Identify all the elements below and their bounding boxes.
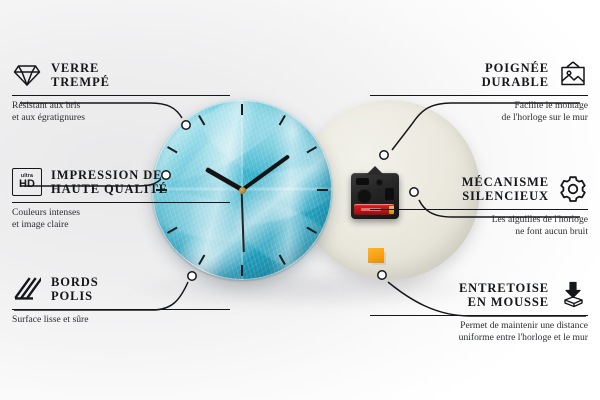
feature-entretoise-en-mousse: ENTRETOISE EN MOUSSE Permet de maintenir… [370, 278, 588, 344]
feature-header: POIGNÉE DURABLE [370, 58, 588, 92]
hd-badge-main-text: HD [19, 179, 35, 190]
polished-edges-icon [12, 274, 42, 304]
foam-spacer-pad [368, 248, 384, 263]
feature-header: MÉCANISME SILENCIEUX [370, 172, 588, 206]
hanging-frame-icon [558, 60, 588, 90]
feature-verre-trempe: VERRE TREMPÉ Résistant aux bris et aux é… [12, 58, 230, 124]
feature-title: MÉCANISME SILENCIEUX [462, 175, 549, 203]
feature-divider [370, 315, 588, 316]
feature-title: POIGNÉE DURABLE [482, 61, 549, 89]
feature-description: Les aiguilles de l'horloge ne font aucun… [370, 214, 588, 238]
feature-title: VERRE TREMPÉ [51, 61, 110, 89]
feature-title: ENTRETOISE EN MOUSSE [459, 281, 549, 309]
feature-description: Surface lisse et sûre [12, 314, 230, 326]
mechanism-panel [356, 178, 369, 185]
ultra-hd-icon: ultra HD [12, 167, 42, 197]
foam-spacer-icon [558, 280, 588, 310]
feature-description: Couleurs intenses et image claire [12, 207, 230, 231]
feature-description: Résistant aux bris et aux égratignures [12, 100, 230, 124]
feature-header: ENTRETOISE EN MOUSSE [370, 278, 588, 312]
feature-title: BORDS POLIS [51, 275, 99, 303]
feature-header: BORDS POLIS [12, 272, 230, 306]
feature-divider [370, 95, 588, 96]
feature-divider [12, 95, 230, 96]
feature-header: ultra HD IMPRESSION DE HAUTE QUALITÉ [12, 165, 230, 199]
feature-mecanisme-silencieux: MÉCANISME SILENCIEUX Les aiguilles de l'… [370, 172, 588, 238]
feature-description: Facilite le montage de l'horloge sur le … [370, 100, 588, 124]
gear-icon [558, 174, 588, 204]
feature-header: VERRE TREMPÉ [12, 58, 230, 92]
hd-badge: ultra HD [12, 168, 42, 196]
feature-description: Permet de maintenir une distance uniform… [370, 320, 588, 344]
feature-divider [12, 309, 230, 310]
feature-divider [370, 209, 588, 210]
feature-bords-polis: BORDS POLIS Surface lisse et sûre [12, 272, 230, 326]
feature-title: IMPRESSION DE HAUTE QUALITÉ [51, 168, 168, 196]
feature-divider [12, 202, 230, 203]
feature-poignee-durable: POIGNÉE DURABLE Facilite le montage de l… [370, 58, 588, 124]
infographic-stage: VERRE TREMPÉ Résistant aux bris et aux é… [0, 0, 600, 400]
feature-impression-haute-qualite: ultra HD IMPRESSION DE HAUTE QUALITÉ Cou… [12, 165, 230, 231]
diamond-icon [12, 60, 42, 90]
